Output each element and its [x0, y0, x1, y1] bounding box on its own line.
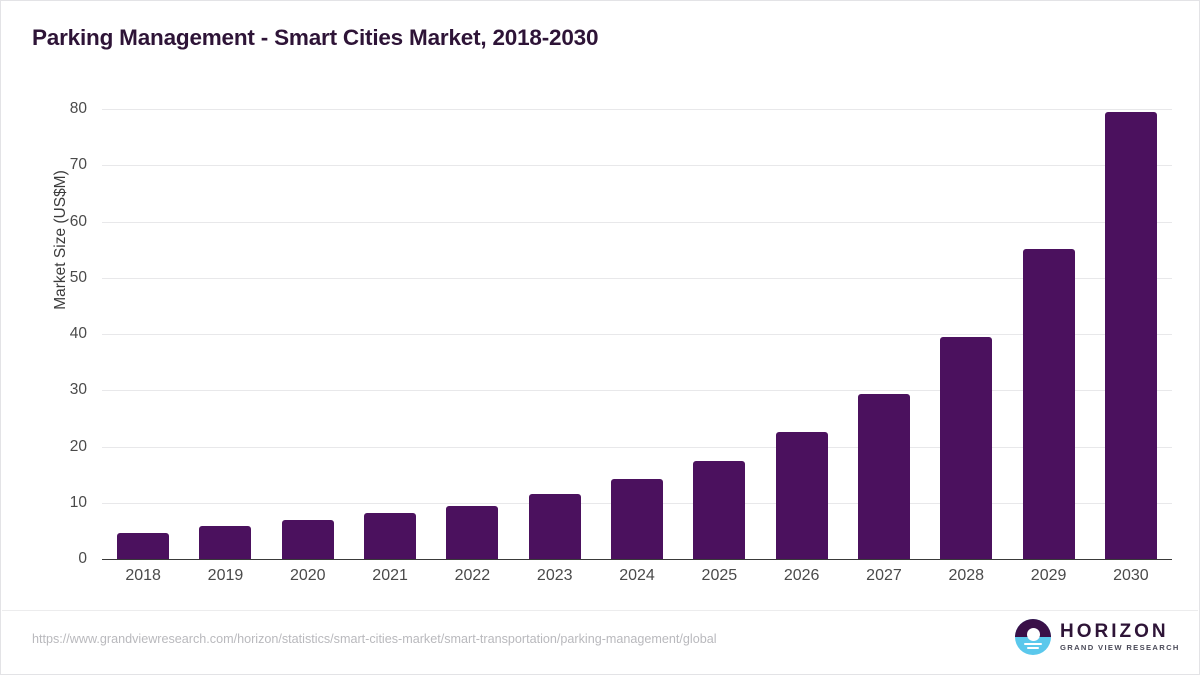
- bar-2019[interactable]: [199, 526, 251, 559]
- bar-2021[interactable]: [364, 513, 416, 559]
- bar-2028[interactable]: [940, 337, 992, 559]
- x-axis-tick-label: 2024: [619, 567, 655, 585]
- x-axis-tick-label: 2028: [948, 567, 984, 585]
- logo-tagline: GRAND VIEW RESEARCH: [1060, 644, 1180, 652]
- y-axis-tick-label: 60: [7, 213, 87, 231]
- logo-text: HORIZON GRAND VIEW RESEARCH: [1060, 622, 1180, 652]
- x-axis-tick-label: 2023: [537, 567, 573, 585]
- bar-slot: 2018: [102, 109, 184, 559]
- bar-slot: 2026: [761, 109, 843, 559]
- bar-slot: 2027: [843, 109, 925, 559]
- y-axis-tick-label: 50: [7, 269, 87, 287]
- bar-slot: 2023: [514, 109, 596, 559]
- bar-slot: 2019: [184, 109, 266, 559]
- bar-slot: 2024: [596, 109, 678, 559]
- chart-card: Parking Management - Smart Cities Market…: [0, 0, 1200, 675]
- bar-slot: 2028: [925, 109, 1007, 559]
- bar-2022[interactable]: [446, 506, 498, 559]
- y-axis-tick-label: 10: [7, 494, 87, 512]
- horizon-logo-icon: [1015, 619, 1051, 655]
- gridline: [102, 559, 1172, 560]
- x-axis-tick-label: 2029: [1031, 567, 1067, 585]
- bar-2024[interactable]: [611, 479, 663, 559]
- chart-plot-area: Market Size (US$M) 01020304050607080 201…: [1, 1, 1200, 676]
- bar-slot: 2021: [349, 109, 431, 559]
- plot-canvas: 01020304050607080 2018201920202021202220…: [102, 109, 1172, 559]
- bar-series: 2018201920202021202220232024202520262027…: [102, 109, 1172, 559]
- x-axis-tick-label: 2020: [290, 567, 326, 585]
- x-axis-tick-label: 2021: [372, 567, 408, 585]
- bar-slot: 2030: [1090, 109, 1172, 559]
- bar-2023[interactable]: [529, 494, 581, 559]
- x-axis-tick-label: 2018: [125, 567, 161, 585]
- y-axis-tick-label: 0: [7, 550, 87, 568]
- y-axis-tick-label: 20: [7, 438, 87, 456]
- y-axis-tick-label: 80: [7, 100, 87, 118]
- bar-2029[interactable]: [1023, 249, 1075, 559]
- y-axis-tick-label: 40: [7, 325, 87, 343]
- bar-slot: 2020: [267, 109, 349, 559]
- bar-2025[interactable]: [693, 461, 745, 559]
- y-axis-tick-label: 30: [7, 381, 87, 399]
- horizon-logo[interactable]: HORIZON GRAND VIEW RESEARCH: [1015, 619, 1180, 655]
- bar-slot: 2025: [678, 109, 760, 559]
- x-axis-tick-label: 2022: [455, 567, 491, 585]
- x-axis-tick-label: 2026: [784, 567, 820, 585]
- bar-2030[interactable]: [1105, 112, 1157, 559]
- x-axis-tick-label: 2019: [208, 567, 244, 585]
- bar-2020[interactable]: [282, 520, 334, 559]
- bar-2018[interactable]: [117, 533, 169, 559]
- footer-divider: [2, 610, 1198, 611]
- source-url[interactable]: https://www.grandviewresearch.com/horizo…: [32, 632, 717, 646]
- bar-slot: 2029: [1007, 109, 1089, 559]
- logo-wordmark: HORIZON: [1060, 622, 1180, 641]
- bar-2027[interactable]: [858, 394, 910, 559]
- bar-slot: 2022: [431, 109, 513, 559]
- bar-2026[interactable]: [776, 432, 828, 559]
- x-axis-tick-label: 2030: [1113, 567, 1149, 585]
- y-axis-tick-label: 70: [7, 156, 87, 174]
- x-axis-tick-label: 2027: [866, 567, 902, 585]
- x-axis-tick-label: 2025: [702, 567, 738, 585]
